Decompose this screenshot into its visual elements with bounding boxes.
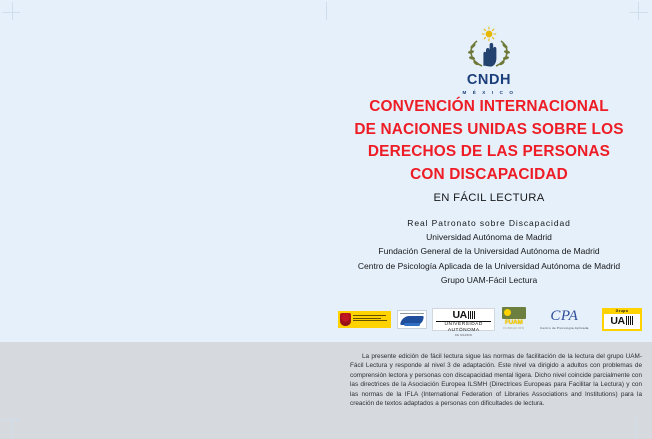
page-subtitle: EN FÁCIL LECTURA	[334, 192, 644, 204]
cndh-acronym: CNDH	[326, 73, 652, 88]
title-line-2: DE NACIONES UNIDAS SOBRE LOS	[334, 119, 644, 142]
edition-note: La presente edición de fácil lectura sig…	[350, 352, 642, 408]
credits-block: Real Patronato sobre Discapacidad Univer…	[328, 216, 650, 287]
grupo-top-text: Grupo	[603, 309, 641, 313]
title-line-4: CON DISCAPACIDAD	[334, 164, 644, 187]
front-cover: CNDH M É X I C O CONVENCIÓN INTERNACIONA…	[326, 0, 652, 342]
fuam-wordmark: FUAM	[501, 319, 527, 327]
title-line-3: DERECHOS DE LAS PERSONAS	[334, 141, 644, 164]
fuam-foot-text: FUNDACIÓN	[501, 327, 527, 330]
fuam-emblem-icon	[502, 307, 526, 319]
cpa-wordmark: CPA	[532, 309, 596, 324]
credit-line-2: Universidad Autónoma de Madrid	[328, 230, 650, 244]
book-cover-spread: CNDH M É X I C O CONVENCIÓN INTERNACIONA…	[0, 0, 652, 439]
grupo-uam-logo: Grupo UA	[602, 308, 642, 331]
credit-line-5: Grupo UAM-Fácil Lectura	[328, 273, 650, 287]
credit-line-1: Real Patronato sobre Discapacidad	[328, 216, 650, 230]
spain-coat-of-arms-icon	[340, 313, 351, 326]
cndh-country: M É X I C O	[326, 90, 652, 95]
uam-name-text: UNIVERSIDAD AUTÓNOMA	[433, 322, 494, 334]
ministerio-logo	[338, 311, 391, 328]
cndh-hand-laurel-emblem	[460, 26, 518, 72]
page-title: CONVENCIÓN INTERNACIONAL DE NACIONES UNI…	[334, 96, 644, 186]
credit-line-4: Centro de Psicología Aplicada de la Univ…	[328, 259, 650, 273]
grupo-uam-monogram: UA	[610, 316, 633, 326]
uam-monogram: UA	[433, 310, 494, 320]
fuam-logo: FUAM FUNDACIÓN	[501, 307, 527, 332]
imserso-logo	[397, 310, 427, 329]
credit-line-3: Fundación General de la Universidad Autó…	[328, 244, 650, 258]
cpa-foot-text: Centro de Psicología Aplicada	[532, 326, 596, 330]
uam-foot-text: DE MADRID	[433, 334, 494, 337]
sponsor-logo-strip: UA UNIVERSIDAD AUTÓNOMA DE MADRID FUAM F…	[338, 305, 642, 333]
cpa-logo: CPA Centro de Psicología Aplicada	[532, 309, 596, 330]
cndh-logo-block: CNDH M É X I C O	[326, 26, 652, 95]
uam-logo: UA UNIVERSIDAD AUTÓNOMA DE MADRID	[432, 308, 495, 331]
ministerio-wordmark	[351, 315, 391, 323]
title-line-1: CONVENCIÓN INTERNACIONAL	[334, 96, 644, 119]
